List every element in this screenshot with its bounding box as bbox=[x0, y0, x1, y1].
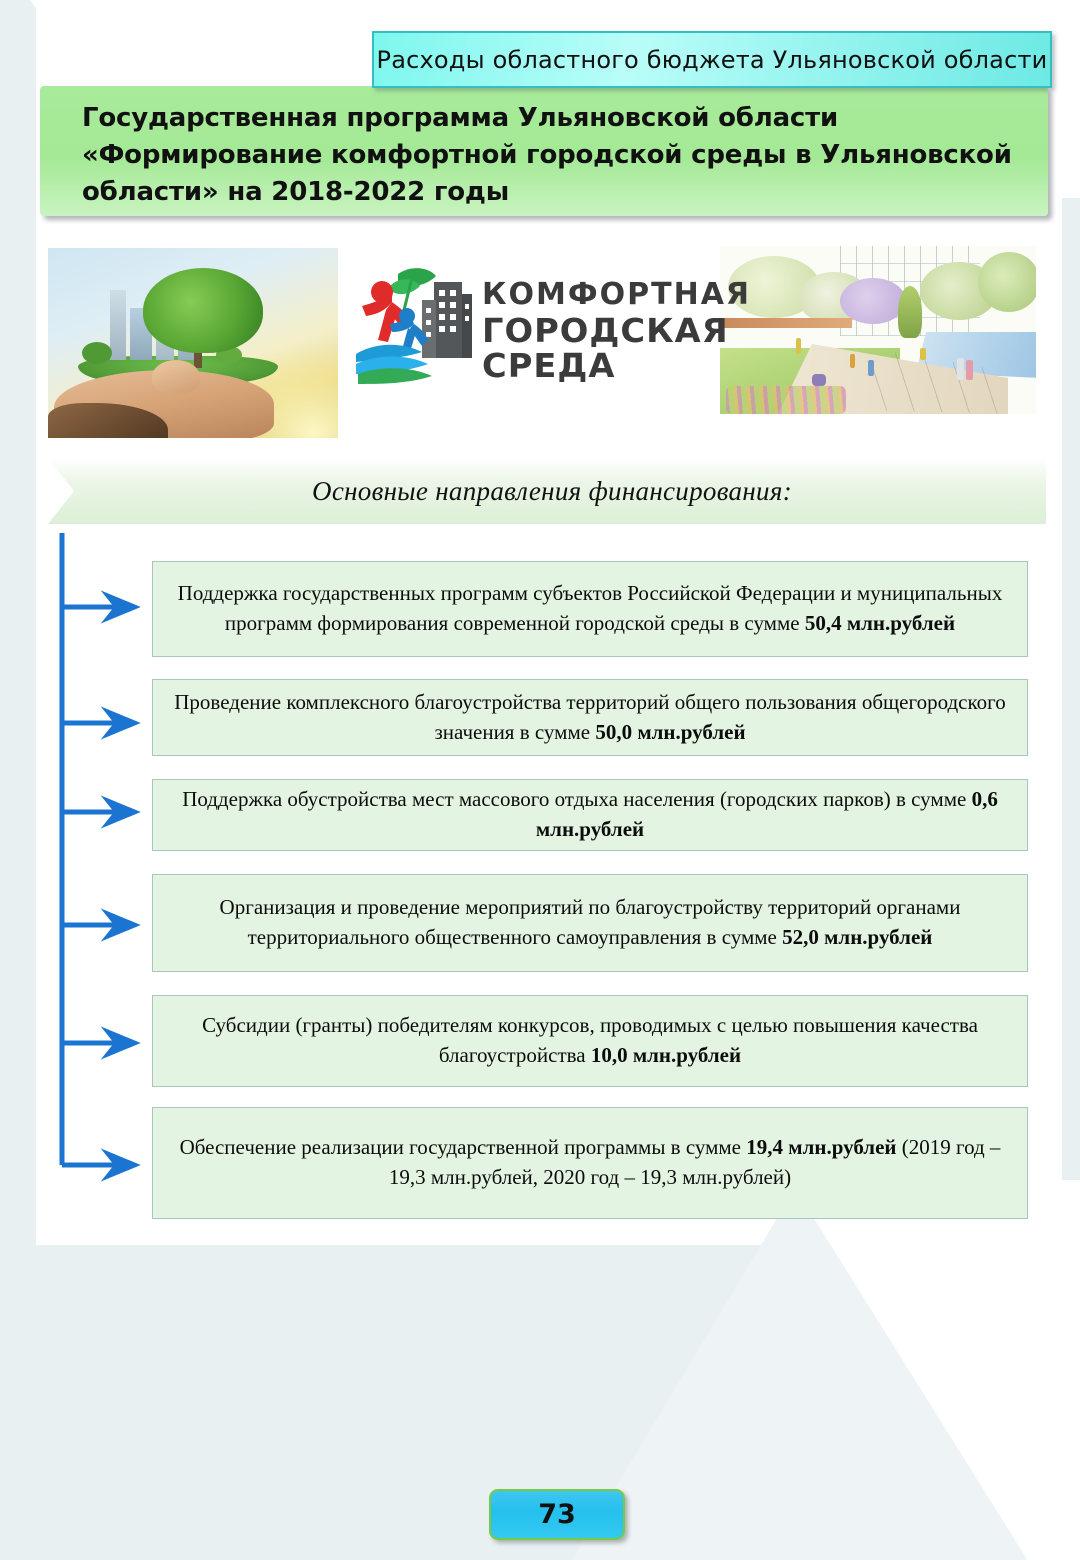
funding-item-text: Поддержка обустройства мест массового от… bbox=[167, 785, 1013, 845]
funding-item-text: Поддержка государственных программ субъе… bbox=[167, 579, 1013, 639]
section-heading-label: Основные направления финансирования: bbox=[302, 476, 792, 507]
eco-city-photo bbox=[48, 248, 338, 438]
logo-line-2: ГОРОДСКАЯ СРЕДА bbox=[482, 314, 719, 383]
park-person-3 bbox=[868, 360, 874, 376]
header-banner-label: Расходы областного бюджета Ульяновской о… bbox=[377, 46, 1048, 74]
funding-amount: 50,0 млн.рублей bbox=[595, 720, 745, 744]
program-title-box: Государственная программа Ульяновской об… bbox=[40, 86, 1048, 216]
section-heading-ribbon: Основные направления финансирования: bbox=[48, 458, 1046, 524]
park-person-5 bbox=[966, 360, 973, 380]
photo-tree-canopy bbox=[143, 268, 263, 353]
park-person-4 bbox=[957, 358, 964, 380]
program-title-line-3: области» на 2018-2022 годы bbox=[82, 174, 1026, 211]
funding-amount: 52,0 млн.рублей bbox=[782, 925, 932, 949]
park-tree-6 bbox=[978, 252, 1036, 312]
park-person-7 bbox=[812, 374, 826, 386]
funding-item-box: Субсидии (гранты) победителям конкурсов,… bbox=[152, 995, 1028, 1087]
komfortnaya-gorodskaya-sreda-logo: КОМФОРТНАЯ ГОРОДСКАЯ СРЕДА bbox=[352, 258, 714, 386]
program-title-text: Государственная программа Ульяновской об… bbox=[82, 100, 1026, 211]
park-person-1 bbox=[796, 338, 801, 354]
page-number-badge: 73 bbox=[489, 1489, 625, 1540]
park-rendering-photo bbox=[720, 246, 1036, 414]
funding-item-text: Организация и проведение мероприятий по … bbox=[167, 893, 1013, 953]
funding-amount: 19,4 млн.рублей bbox=[746, 1135, 896, 1159]
funding-amount: 10,0 млн.рублей bbox=[591, 1043, 741, 1067]
park-flower-bed bbox=[726, 386, 846, 414]
logo-line-1: КОМФОРТНАЯ bbox=[482, 280, 714, 310]
header-banner: Расходы областного бюджета Ульяновской о… bbox=[372, 31, 1052, 88]
funding-amount: 50,4 млн.рублей bbox=[805, 611, 955, 635]
logo-mark-icon bbox=[352, 258, 480, 386]
park-pergola bbox=[722, 318, 852, 328]
funding-item-box: Поддержка обустройства мест массового от… bbox=[152, 779, 1028, 851]
park-person-2 bbox=[850, 354, 855, 368]
park-tree-4 bbox=[898, 286, 922, 338]
logo-wordmark: КОМФОРТНАЯ ГОРОДСКАЯ СРЕДА bbox=[482, 280, 714, 383]
funding-item-box: Поддержка государственных программ субъе… bbox=[152, 561, 1028, 657]
photo-building-1 bbox=[110, 290, 126, 360]
program-title-line-1: Государственная программа Ульяновской об… bbox=[82, 100, 1026, 137]
funding-item-text: Обеспечение реализации государственной п… bbox=[167, 1133, 1013, 1193]
park-person-6 bbox=[920, 348, 926, 360]
photo-thumb bbox=[152, 360, 200, 394]
funding-item-text: Субсидии (гранты) победителям конкурсов,… bbox=[167, 1011, 1013, 1071]
funding-item-text: Проведение комплексного благоустройства … bbox=[167, 688, 1013, 748]
funding-item-box: Проведение комплексного благоустройства … bbox=[152, 679, 1028, 756]
funding-item-box: Организация и проведение мероприятий по … bbox=[152, 874, 1028, 972]
photo-shrub-1 bbox=[82, 342, 112, 364]
funding-item-box: Обеспечение реализации государственной п… bbox=[152, 1107, 1028, 1219]
page-number-label: 73 bbox=[538, 1499, 576, 1530]
program-title-line-2: «Формирование комфортной городской среды… bbox=[82, 137, 1026, 174]
